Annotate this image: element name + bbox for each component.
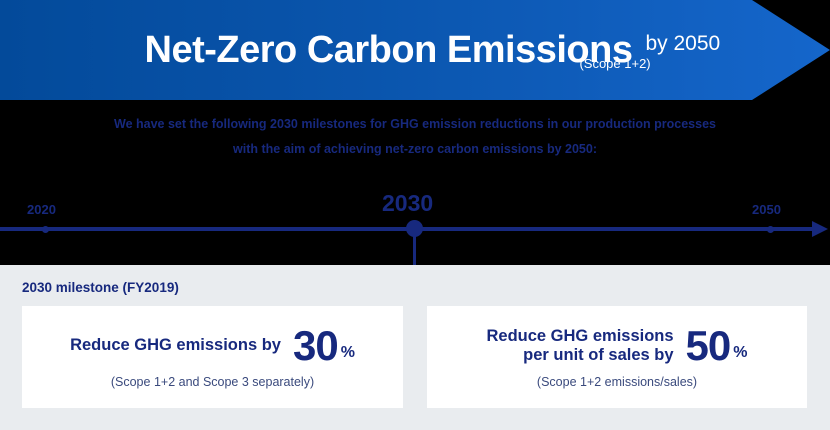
page-title: Net-Zero Carbon Emissions	[145, 31, 633, 69]
hero-by-year: by 2050	[645, 32, 720, 56]
milestone-card-2-value: 50	[686, 326, 731, 366]
milestone-card-1-main: Reduce GHG emissions by 30 %	[70, 326, 355, 366]
timeline-label-2020: 2020	[27, 202, 56, 217]
timeline-marker-stem	[413, 234, 416, 266]
timeline-label-2030: 2030	[382, 190, 433, 217]
hero-scope-note: (Scope 1+2)	[579, 56, 650, 71]
milestone-card-1-text: Reduce GHG emissions by	[70, 336, 281, 355]
milestone-card-2-unit: %	[733, 344, 747, 366]
milestone-card-2: Reduce GHG emissions per unit of sales b…	[427, 306, 807, 408]
milestone-card-1-unit: %	[341, 344, 355, 366]
timeline-arrow-icon	[812, 221, 828, 237]
milestone-panel-label: 2030 milestone (FY2019)	[22, 280, 179, 295]
milestone-card-2-main: Reduce GHG emissions per unit of sales b…	[486, 326, 747, 366]
milestone-card-2-note: (Scope 1+2 emissions/sales)	[537, 375, 697, 389]
timeline-tick-2050	[767, 226, 774, 233]
milestone-card-2-text: Reduce GHG emissions per unit of sales b…	[486, 327, 673, 365]
milestone-card-1-note: (Scope 1+2 and Scope 3 separately)	[111, 375, 314, 389]
intro-line-1: We have set the following 2030 milestone…	[0, 112, 830, 137]
hero-content: Net-Zero Carbon Emissions by 2050 (Scope…	[0, 0, 790, 100]
timeline-tick-2020	[42, 226, 49, 233]
intro-line-2: with the aim of achieving net-zero carbo…	[0, 137, 830, 162]
timeline: 2020 2030 2050	[0, 190, 830, 265]
milestone-card-1-value: 30	[293, 326, 338, 366]
infographic-page: Net-Zero Carbon Emissions by 2050 (Scope…	[0, 0, 830, 430]
milestone-card-1: Reduce GHG emissions by 30 % (Scope 1+2 …	[22, 306, 403, 408]
intro-paragraph: We have set the following 2030 milestone…	[0, 112, 830, 162]
timeline-label-2050: 2050	[752, 202, 781, 217]
